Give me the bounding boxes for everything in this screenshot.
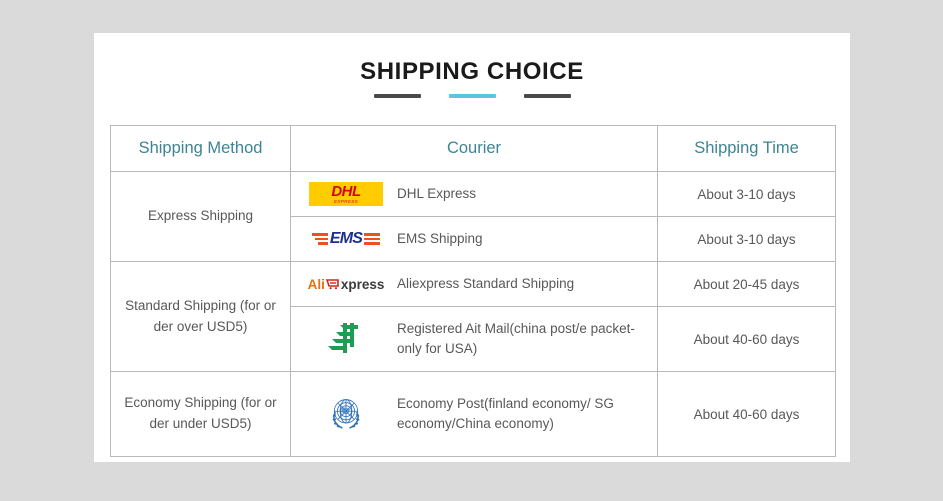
title-divider-group <box>94 94 850 98</box>
shipping-choice-card: SHIPPING CHOICE Shipping Method Courier … <box>94 33 850 462</box>
china-post-emblem-icon <box>326 321 366 357</box>
courier-name-ems: EMS Shipping <box>397 229 483 249</box>
shipping-method-economy-line1: Economy Shipping (for or <box>111 393 290 414</box>
un-globe-logo <box>305 392 387 436</box>
ems-logo-stripes-left <box>312 233 328 245</box>
courier-name-economy-post: Economy Post(finland economy/ SG economy… <box>397 394 649 433</box>
shipping-time-china-post: About 40-60 days <box>658 307 836 372</box>
courier-name-aliexpress: Aliexpress Standard Shipping <box>397 274 574 294</box>
aliexpress-logo: Ali xpress <box>305 277 387 292</box>
column-header-shipping-time: Shipping Time <box>658 126 836 172</box>
china-post-logo <box>305 321 387 357</box>
dash-center-accent-icon <box>449 94 496 98</box>
shopping-cart-icon <box>326 278 340 290</box>
shipping-table: Shipping Method Courier Shipping Time Ex… <box>110 125 836 457</box>
shipping-method-standard: Standard Shipping (for or der over USD5) <box>111 262 291 372</box>
table-row: Standard Shipping (for or der over USD5)… <box>111 262 836 307</box>
ems-logo: EMS <box>305 226 387 252</box>
shipping-time-ems: About 3-10 days <box>658 217 836 262</box>
courier-name-dhl: DHL Express <box>397 184 476 204</box>
courier-cell-dhl: DHL EXPRESS DHL Express <box>291 172 658 217</box>
shipping-method-standard-line2: der over USD5) <box>111 317 290 338</box>
column-header-courier: Courier <box>291 126 658 172</box>
courier-cell-china-post: Registered Ait Mail(china post/e packet-… <box>291 307 658 372</box>
shipping-method-express: Express Shipping <box>111 172 291 262</box>
page-title: SHIPPING CHOICE <box>94 58 850 86</box>
shipping-method-economy: Economy Shipping (for or der under USD5) <box>111 372 291 457</box>
aliexpress-logo-part1: Ali <box>308 277 325 292</box>
shipping-time-dhl: About 3-10 days <box>658 172 836 217</box>
courier-cell-aliexpress: Ali xpress Ali <box>291 262 658 307</box>
courier-cell-ems: EMS EMS Shipping <box>291 217 658 262</box>
shipping-time-economy-post: About 40-60 days <box>658 372 836 457</box>
courier-cell-economy-post: Economy Post(finland economy/ SG economy… <box>291 372 658 457</box>
dash-right-icon <box>524 94 571 98</box>
table-header-row: Shipping Method Courier Shipping Time <box>111 126 836 172</box>
dhl-logo: DHL EXPRESS <box>305 182 387 206</box>
shipping-method-standard-line1: Standard Shipping (for or <box>111 296 290 317</box>
table-row: Express Shipping DHL EXPRESS DHL Express <box>111 172 836 217</box>
table-row: Economy Shipping (for or der under USD5) <box>111 372 836 457</box>
dhl-logo-sub: EXPRESS <box>334 200 358 205</box>
ems-logo-stripes-right <box>364 233 380 245</box>
un-emblem-icon <box>324 392 368 436</box>
column-header-shipping-method: Shipping Method <box>111 126 291 172</box>
courier-name-china-post: Registered Ait Mail(china post/e packet-… <box>397 319 649 358</box>
page-root: SHIPPING CHOICE Shipping Method Courier … <box>0 0 943 501</box>
ems-logo-main: EMS <box>330 230 362 248</box>
dhl-logo-main: DHL <box>331 184 360 199</box>
dash-left-icon <box>374 94 421 98</box>
shipping-method-economy-line2: der under USD5) <box>111 414 290 435</box>
aliexpress-logo-part2: xpress <box>341 277 385 292</box>
shipping-time-aliexpress: About 20-45 days <box>658 262 836 307</box>
